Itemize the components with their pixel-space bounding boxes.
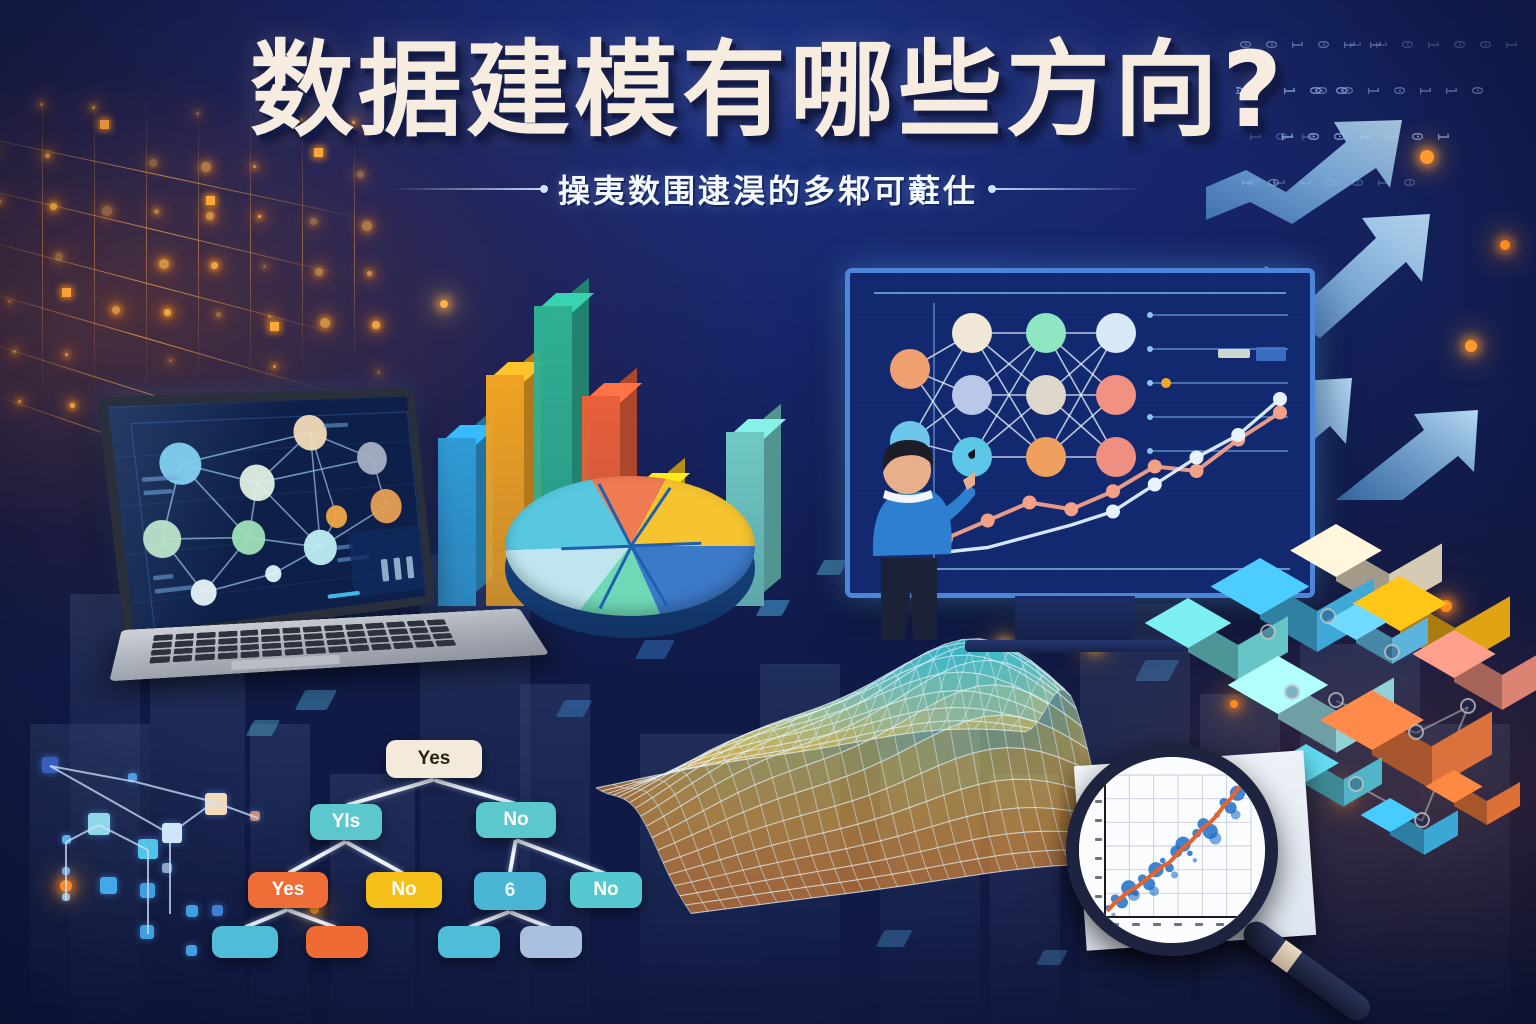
lattice-node [216, 312, 221, 317]
lattice-node [169, 359, 172, 362]
tree-edge [345, 840, 405, 875]
network-edge [99, 824, 149, 851]
tree-node[interactable]: 6 [474, 872, 546, 910]
laptop-key[interactable] [432, 633, 453, 640]
monitor-foot [965, 640, 1185, 652]
laptop-key[interactable] [388, 628, 408, 634]
lattice-node [70, 403, 75, 408]
laptop-key[interactable] [218, 638, 237, 645]
laptop-key[interactable] [303, 626, 322, 632]
pie-separator [630, 545, 668, 606]
tree-node-label: No [593, 879, 618, 901]
laptop-key[interactable] [369, 636, 389, 643]
monitor-stand [1015, 596, 1135, 642]
pie-separator [630, 487, 671, 546]
laptop-key[interactable] [325, 632, 344, 639]
tree-edge [515, 838, 606, 875]
laptop-device [100, 392, 570, 712]
laptop-key[interactable] [152, 641, 172, 648]
tree-node-label: No [391, 879, 416, 901]
laptop-key[interactable] [261, 628, 280, 634]
laptop-key[interactable] [218, 645, 237, 652]
subtitle-rule-right [994, 188, 1144, 190]
laptop-key[interactable] [390, 635, 410, 642]
laptop-key[interactable] [350, 645, 370, 652]
tree-node[interactable]: No [570, 872, 642, 908]
lattice-node [65, 353, 68, 356]
tree-node[interactable]: Yes [386, 740, 482, 778]
laptop-key[interactable] [240, 644, 259, 651]
lattice-square [270, 322, 279, 331]
pie-separator [599, 545, 633, 609]
title-block: 数据建模有哪些方向? 操夷数围逮淏的多邾可蘣仕 [0, 38, 1536, 212]
lattice-node [315, 268, 323, 276]
tree-node[interactable] [306, 926, 368, 958]
network-edge [147, 850, 149, 934]
laptop-key[interactable] [240, 637, 259, 644]
presenter-body [873, 435, 975, 640]
magnifier-ferrule [1271, 940, 1302, 973]
cube-connector-node [1414, 812, 1430, 828]
laptop-key[interactable] [306, 647, 326, 654]
infographic-canvas: 1 0 0 1 0 1 10 1 1 0 1 0 01 0 1 1 0 0 10… [0, 0, 1536, 1024]
pie-separator [631, 542, 701, 547]
laptop-key[interactable] [365, 623, 384, 629]
laptop-key[interactable] [151, 649, 171, 656]
laptop-key[interactable] [261, 635, 280, 642]
laptop-key[interactable] [153, 634, 173, 641]
lattice-node [263, 265, 266, 268]
tree-node-label: Yes [272, 879, 305, 901]
page-title: 数据建模有哪些方向? [0, 38, 1536, 142]
lattice-node [372, 321, 380, 329]
laptop-key[interactable] [262, 650, 282, 657]
cube-connector-node [1260, 624, 1276, 640]
laptop-key[interactable] [175, 633, 194, 640]
laptop-key[interactable] [371, 643, 391, 650]
laptop-key[interactable] [284, 649, 304, 656]
laptop-key[interactable] [149, 656, 170, 663]
laptop-key[interactable] [196, 646, 215, 653]
cube-connector-node [1328, 692, 1344, 708]
magnifier-group [1050, 738, 1390, 1008]
decision-tree-diagram: YesYlsNoYesNo6No [190, 722, 700, 972]
tree-edge [287, 840, 347, 875]
cube-connector-node [1460, 698, 1476, 714]
cube-connector-node [1320, 608, 1336, 624]
laptop-key[interactable] [240, 651, 259, 658]
pie-separator [561, 545, 631, 550]
laptop-key[interactable] [348, 638, 368, 645]
glow-fleck [1500, 240, 1510, 250]
laptop-screen [97, 388, 435, 645]
laptop-key[interactable] [429, 626, 449, 632]
tree-edge [508, 839, 517, 874]
lattice-node [258, 215, 261, 218]
laptop-key[interactable] [218, 631, 237, 638]
laptop-key[interactable] [173, 647, 193, 654]
laptop-network-svg [108, 396, 435, 645]
lattice-node [211, 262, 218, 269]
laptop-key[interactable] [427, 619, 447, 625]
tree-node[interactable] [212, 926, 278, 958]
lattice-node [112, 306, 120, 314]
lattice-node [367, 271, 372, 276]
network-square-node [100, 877, 117, 894]
lattice-node [377, 371, 380, 374]
network-edge [65, 842, 67, 900]
subtitle-rule-dot-left [540, 185, 548, 193]
tree-node-label: No [503, 809, 528, 831]
lattice-node [164, 309, 171, 316]
lattice-node [320, 318, 330, 328]
tree-node[interactable]: No [476, 802, 556, 838]
network-edge [169, 834, 171, 914]
laptop-key[interactable] [328, 646, 348, 653]
laptop-key[interactable] [324, 625, 343, 631]
laptop-key[interactable] [406, 620, 426, 626]
lattice-node [268, 315, 271, 318]
laptop-key[interactable] [174, 640, 194, 647]
laptop-key[interactable] [386, 621, 406, 627]
lattice-square [62, 288, 71, 297]
lattice-node [18, 400, 21, 403]
lattice-node [310, 218, 317, 225]
laptop-key[interactable] [393, 642, 414, 649]
lattice-node [273, 365, 276, 368]
laptop-key[interactable] [197, 632, 216, 639]
cube-connector-node [1408, 724, 1424, 740]
cube-connector-node [1384, 644, 1400, 660]
laptop-key[interactable] [367, 629, 387, 635]
laptop-key[interactable] [262, 642, 281, 649]
lattice-node [206, 212, 214, 220]
subtitle-rule-left [392, 188, 542, 190]
lattice-line [0, 234, 343, 336]
tree-node-label: Yls [332, 811, 361, 833]
laptop-key[interactable] [435, 640, 456, 647]
laptop-key[interactable] [172, 655, 192, 662]
laptop-key[interactable] [327, 639, 347, 646]
tree-node[interactable] [438, 926, 500, 958]
laptop-key[interactable] [304, 633, 323, 640]
laptop-key[interactable] [282, 627, 301, 633]
laptop-key[interactable] [305, 640, 325, 647]
presenter-pen [967, 435, 975, 460]
laptop-key[interactable] [411, 634, 431, 641]
lattice-node [362, 221, 372, 231]
laptop-key[interactable] [240, 630, 259, 636]
tree-node[interactable]: Yes [248, 872, 328, 908]
tree-node[interactable] [520, 926, 582, 958]
laptop-key[interactable] [414, 641, 435, 648]
laptop-key[interactable] [195, 654, 215, 661]
subtitle-row: 操夷数围逮淏的多邾可蘣仕 [0, 166, 1536, 212]
laptop-key[interactable] [409, 627, 429, 633]
presenter-pants [881, 558, 937, 640]
lattice-line [0, 286, 329, 392]
lattice-node [159, 259, 169, 269]
tree-node[interactable]: No [366, 872, 442, 908]
tree-node-label: Yes [418, 748, 451, 770]
magnifier-lens [1066, 744, 1278, 956]
tree-node[interactable]: Yls [310, 804, 382, 840]
tree-node-label: 6 [505, 880, 516, 902]
laptop-key[interactable] [346, 631, 366, 637]
lattice-node [13, 350, 16, 353]
laptop-key[interactable] [283, 634, 302, 641]
pie-separator [598, 483, 632, 546]
laptop-key[interactable] [345, 624, 364, 630]
lattice-node [8, 300, 11, 303]
cube-connector-node [1284, 684, 1300, 700]
laptop-key[interactable] [218, 652, 237, 659]
laptop-key[interactable] [196, 639, 215, 646]
presenter-hand [963, 468, 975, 490]
page-subtitle: 操夷数围逮淏的多邾可蘣仕 [558, 166, 978, 212]
presenter-figure [845, 418, 975, 648]
glow-fleck [1465, 340, 1477, 352]
laptop-key[interactable] [284, 641, 303, 648]
subtitle-rule-dot-right [988, 185, 996, 193]
